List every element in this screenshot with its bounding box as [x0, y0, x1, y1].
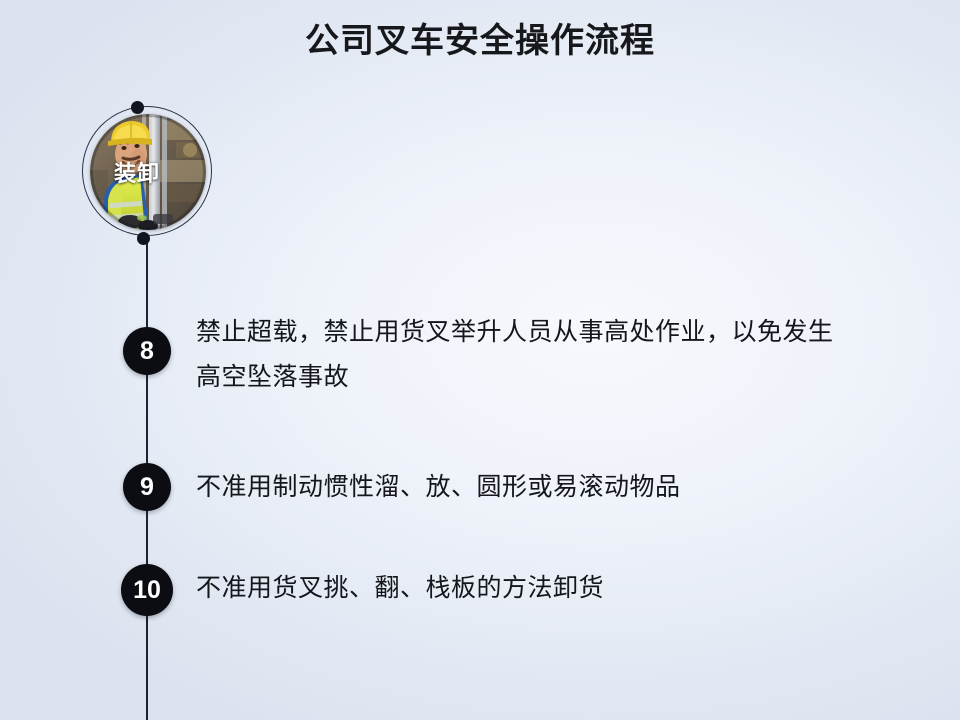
step-number-badge: 9	[123, 463, 171, 511]
step-text: 不准用货叉挑、翻、栈板的方法卸货	[196, 566, 896, 611]
step-number-badge: 10	[121, 564, 173, 616]
photo-node: 装卸	[82, 106, 214, 238]
step-text: 禁止超载，禁止用货叉举升人员从事高处作业，以免发生高空坠落事故	[196, 310, 856, 400]
timeline-connector-dot-bottom	[137, 232, 150, 245]
slide-canvas: 公司叉车安全操作流程	[0, 0, 960, 720]
step-text: 不准用制动惯性溜、放、圆形或易滚动物品	[196, 465, 896, 510]
page-title: 公司叉车安全操作流程	[0, 17, 960, 65]
timeline-connector-dot-top	[131, 101, 144, 114]
forklift-operator-photo	[90, 114, 206, 230]
step-number-badge: 8	[123, 327, 171, 375]
